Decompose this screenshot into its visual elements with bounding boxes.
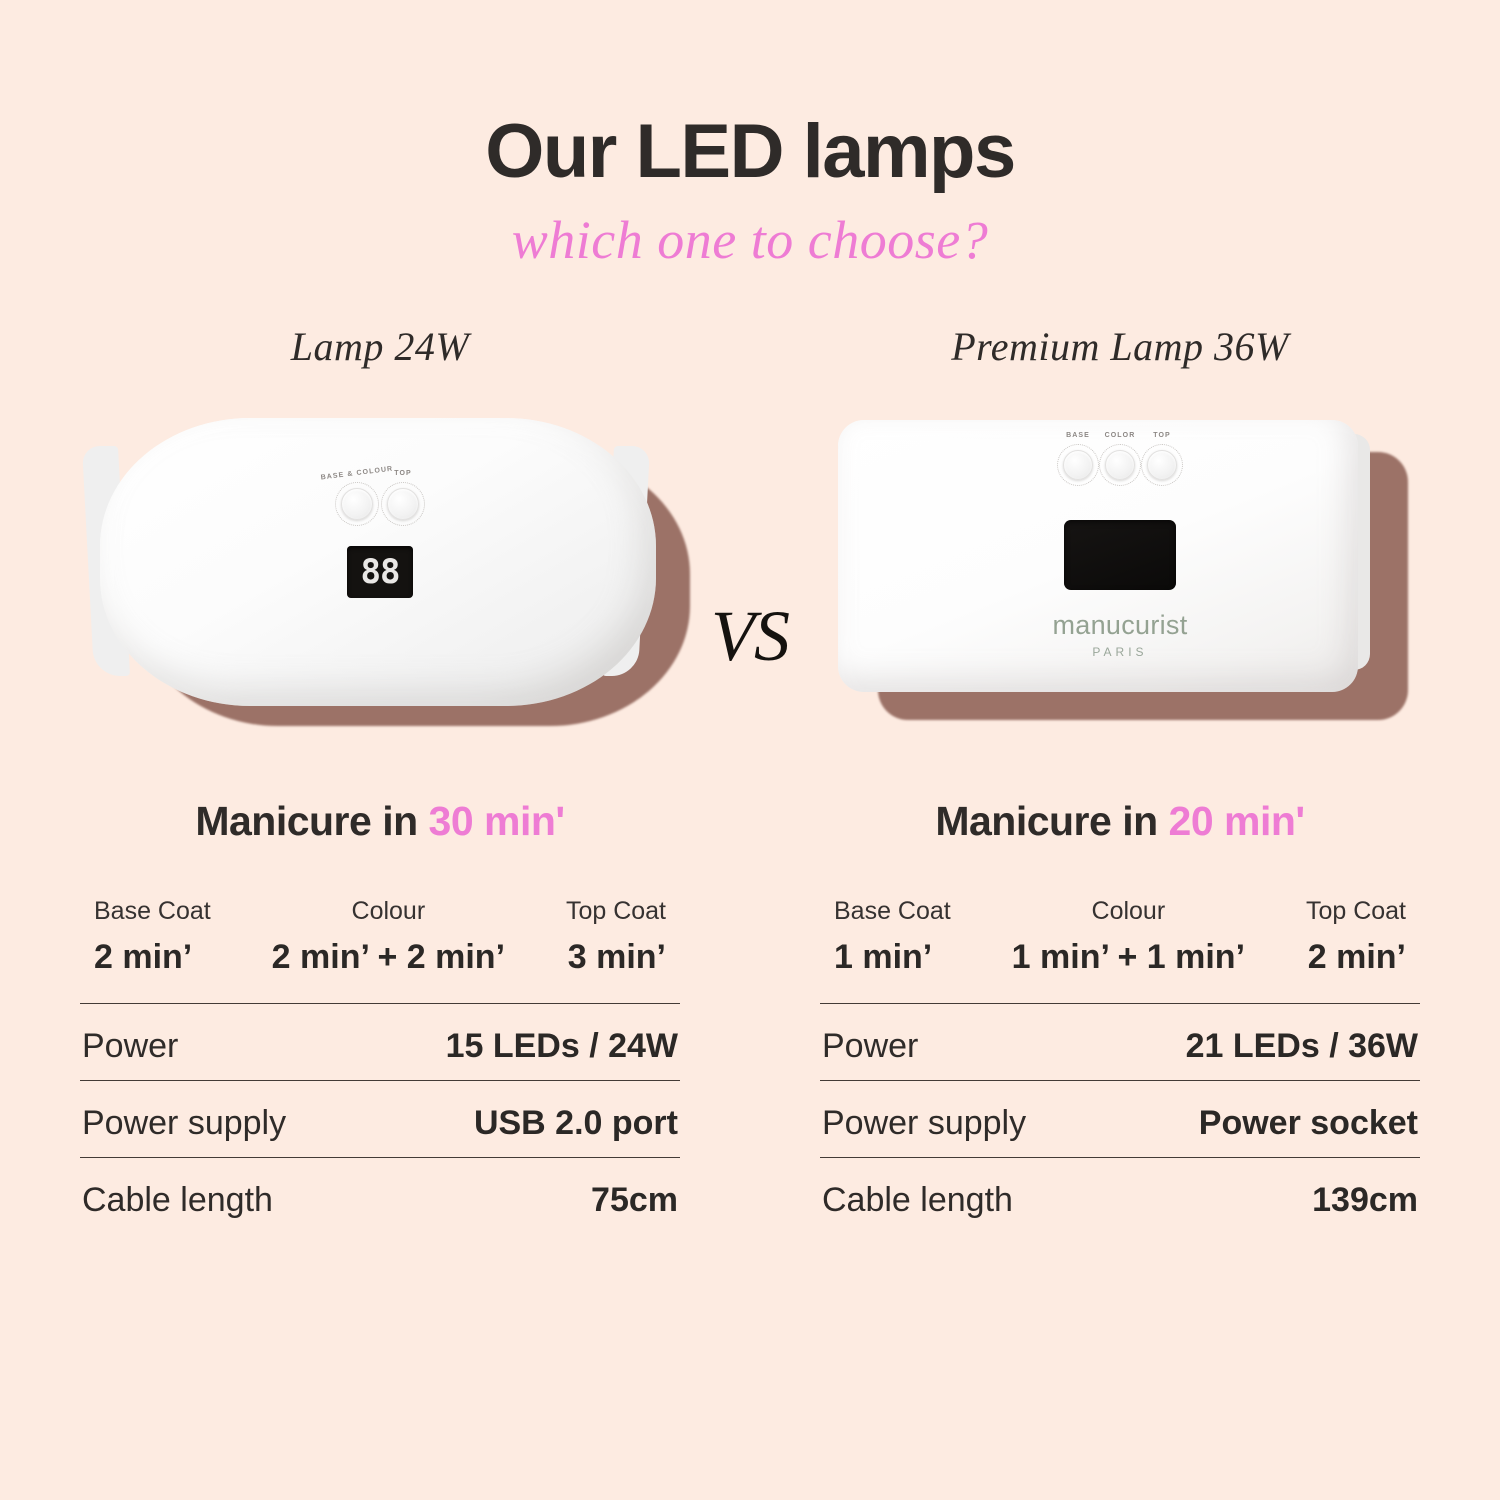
- coat-value: 2 min’ + 2 min’: [272, 938, 505, 977]
- control-knobs-24w: BASE & COLOUR TOP: [341, 488, 419, 520]
- coat-top: Top Coat 3 min’: [566, 897, 666, 977]
- spec-value: Power socket: [1199, 1104, 1418, 1143]
- spec-value: 21 LEDs / 36W: [1186, 1027, 1418, 1066]
- versus-label: VS: [711, 595, 789, 678]
- spec-label: Cable length: [822, 1181, 1013, 1220]
- spec-label: Power: [82, 1027, 178, 1066]
- knob-base-colour[interactable]: BASE & COLOUR: [341, 488, 373, 520]
- spec-value: 75cm: [591, 1181, 678, 1220]
- table-row: Power supply USB 2.0 port: [80, 1080, 680, 1157]
- knob-color[interactable]: COLOR: [1105, 450, 1135, 480]
- coat-value: 3 min’: [566, 938, 666, 977]
- coat-header: Base Coat: [834, 897, 951, 926]
- knob-label-base: BASE: [1066, 432, 1090, 439]
- coat-base: Base Coat 1 min’: [834, 897, 951, 977]
- lamp-title-24w: Lamp 24W: [80, 323, 680, 370]
- coat-colour: Colour 2 min’ + 2 min’: [272, 897, 505, 977]
- coat-header: Top Coat: [566, 897, 666, 926]
- spec-value: 15 LEDs / 24W: [446, 1027, 678, 1066]
- spec-label: Power supply: [822, 1104, 1026, 1143]
- coat-base: Base Coat 2 min’: [94, 897, 211, 977]
- brand-location: PARIS: [1052, 646, 1187, 658]
- spec-value: USB 2.0 port: [474, 1104, 678, 1143]
- manicure-time-36w: Manicure in 20 min': [820, 798, 1420, 845]
- spec-label: Power supply: [82, 1104, 286, 1143]
- table-row: Cable length 139cm: [820, 1157, 1420, 1234]
- spec-label: Cable length: [82, 1181, 273, 1220]
- manicure-prefix: Manicure in: [935, 798, 1168, 844]
- coat-times-24w: Base Coat 2 min’ Colour 2 min’ + 2 min’ …: [80, 897, 680, 977]
- coat-header: Colour: [272, 897, 505, 926]
- manicure-duration: 20 min': [1169, 798, 1305, 844]
- brand-name: manucurist: [1052, 612, 1187, 639]
- table-row: Power 21 LEDs / 36W: [820, 1003, 1420, 1080]
- coat-value: 1 min’ + 1 min’: [1012, 938, 1245, 977]
- coat-top: Top Coat 2 min’: [1306, 897, 1406, 977]
- lamp-image-36w: BASE COLOR TOP manucurist PARIS: [820, 406, 1420, 746]
- lamp-title-36w: Premium Lamp 36W: [820, 323, 1420, 370]
- knob-label-color: COLOR: [1105, 432, 1136, 439]
- display-digits: 88: [361, 555, 400, 589]
- knob-label-top: TOP: [1153, 432, 1171, 439]
- knob-cap-icon: [391, 492, 415, 516]
- coat-colour: Colour 1 min’ + 1 min’: [1012, 897, 1245, 977]
- control-knobs-36w: BASE COLOR TOP: [1063, 450, 1177, 480]
- knob-cap-icon: [1151, 454, 1173, 476]
- coat-value: 2 min’: [94, 938, 211, 977]
- coat-header: Colour: [1012, 897, 1245, 926]
- lamp-column-24w: Lamp 24W BASE & COLOUR TOP 88: [80, 323, 680, 1234]
- lamp-image-24w: BASE & COLOUR TOP 88: [80, 406, 680, 746]
- spec-value: 139cm: [1312, 1181, 1418, 1220]
- manicure-time-24w: Manicure in 30 min': [80, 798, 680, 845]
- coat-header: Base Coat: [94, 897, 211, 926]
- manicure-prefix: Manicure in: [195, 798, 428, 844]
- spec-label: Power: [822, 1027, 918, 1066]
- knob-cap-icon: [345, 492, 369, 516]
- spec-table-36w: Power 21 LEDs / 36W Power supply Power s…: [820, 1003, 1420, 1234]
- knob-label-top: TOP: [394, 470, 412, 477]
- manicure-duration: 30 min': [429, 798, 565, 844]
- knob-base[interactable]: BASE: [1063, 450, 1093, 480]
- lamp-column-36w: Premium Lamp 36W BASE COLOR: [820, 323, 1420, 1234]
- knob-cap-icon: [1109, 454, 1131, 476]
- coat-value: 2 min’: [1306, 938, 1406, 977]
- comparison-section: Lamp 24W BASE & COLOUR TOP 88: [0, 323, 1500, 1234]
- knob-top[interactable]: TOP: [387, 488, 419, 520]
- page-subtitle: which one to choose?: [0, 209, 1500, 271]
- led-display-24w: 88: [347, 546, 413, 598]
- page-title: Our LED lamps: [0, 112, 1500, 193]
- coat-times-36w: Base Coat 1 min’ Colour 1 min’ + 1 min’ …: [820, 897, 1420, 977]
- knob-top[interactable]: TOP: [1147, 450, 1177, 480]
- coat-value: 1 min’: [834, 938, 951, 977]
- table-row: Power supply Power socket: [820, 1080, 1420, 1157]
- brand-logo: manucurist PARIS: [1052, 612, 1187, 658]
- page-header: Our LED lamps which one to choose?: [0, 0, 1500, 271]
- spec-table-24w: Power 15 LEDs / 24W Power supply USB 2.0…: [80, 1003, 680, 1234]
- knob-cap-icon: [1067, 454, 1089, 476]
- lcd-screen-36w: [1064, 520, 1176, 590]
- table-row: Power 15 LEDs / 24W: [80, 1003, 680, 1080]
- table-row: Cable length 75cm: [80, 1157, 680, 1234]
- coat-header: Top Coat: [1306, 897, 1406, 926]
